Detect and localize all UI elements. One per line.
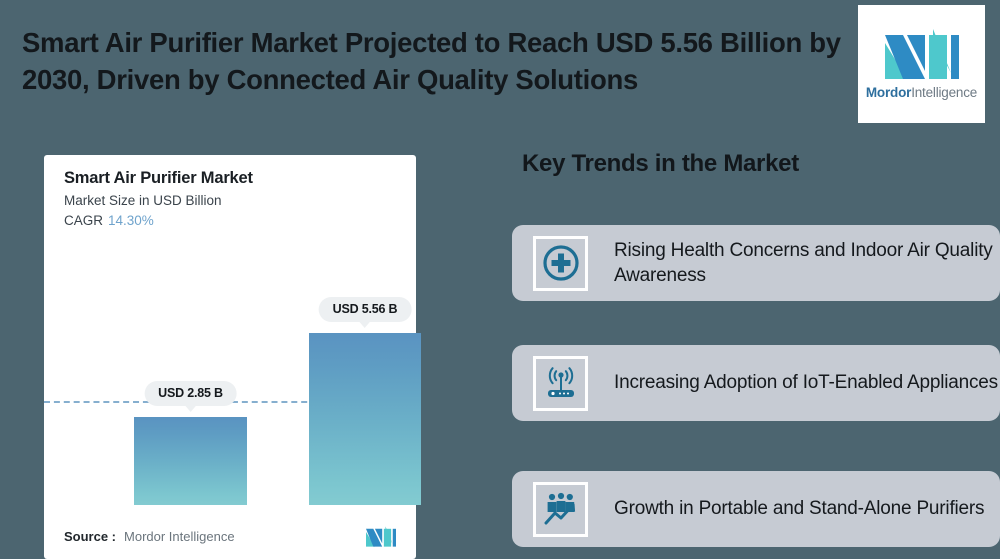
bar-group-2030: USD 5.56 B bbox=[309, 257, 421, 505]
chart-cagr: CAGR14.30% bbox=[64, 213, 154, 228]
trend-label-iot: Increasing Adoption of IoT-Enabled Appli… bbox=[614, 370, 998, 395]
chart-source-row: Source : Mordor Intelligence bbox=[64, 526, 396, 547]
mordor-intelligence-logo-icon bbox=[885, 29, 959, 79]
wifi-router-icon bbox=[533, 356, 588, 411]
brand-wordmark-bold: Mordor bbox=[866, 85, 911, 100]
page-title: Smart Air Purifier Market Projected to R… bbox=[22, 24, 852, 98]
bar-group-2025: USD 2.85 B bbox=[134, 257, 247, 505]
trend-card-health[interactable]: Rising Health Concerns and Indoor Air Qu… bbox=[512, 225, 1000, 301]
chart-cagr-value: 14.30% bbox=[108, 213, 154, 228]
chart-subtitle: Market Size in USD Billion bbox=[64, 193, 222, 208]
trend-card-portable[interactable]: Growth in Portable and Stand-Alone Purif… bbox=[512, 471, 1000, 547]
bar-2025 bbox=[134, 417, 247, 505]
chart-cagr-label: CAGR bbox=[64, 213, 103, 228]
brand-wordmark: MordorIntelligence bbox=[866, 85, 977, 100]
bar-chart-plot: USD 2.85 B USD 5.56 B 2025 2030 bbox=[44, 241, 416, 505]
chart-source-label: Source : bbox=[64, 529, 116, 544]
people-growth-arrow-icon bbox=[533, 482, 588, 537]
trend-card-iot[interactable]: Increasing Adoption of IoT-Enabled Appli… bbox=[512, 345, 1000, 421]
trend-label-health: Rising Health Concerns and Indoor Air Qu… bbox=[614, 238, 1000, 288]
brand-logo-card: MordorIntelligence bbox=[858, 5, 985, 123]
mordor-intelligence-logo-icon-small bbox=[366, 526, 396, 547]
trend-label-portable: Growth in Portable and Stand-Alone Purif… bbox=[614, 496, 984, 521]
bar-value-label-2025: USD 2.85 B bbox=[144, 381, 237, 406]
brand-wordmark-regular: Intelligence bbox=[911, 85, 977, 100]
trends-heading: Key Trends in the Market bbox=[522, 150, 799, 178]
medical-cross-circle-icon bbox=[533, 236, 588, 291]
page-header: Smart Air Purifier Market Projected to R… bbox=[0, 0, 1000, 130]
chart-title: Smart Air Purifier Market bbox=[64, 169, 253, 188]
chart-source-value: Mordor Intelligence bbox=[124, 529, 235, 544]
bar-2030 bbox=[309, 333, 421, 505]
bar-value-label-2030: USD 5.56 B bbox=[319, 297, 412, 322]
chart-card: Smart Air Purifier Market Market Size in… bbox=[44, 155, 416, 559]
